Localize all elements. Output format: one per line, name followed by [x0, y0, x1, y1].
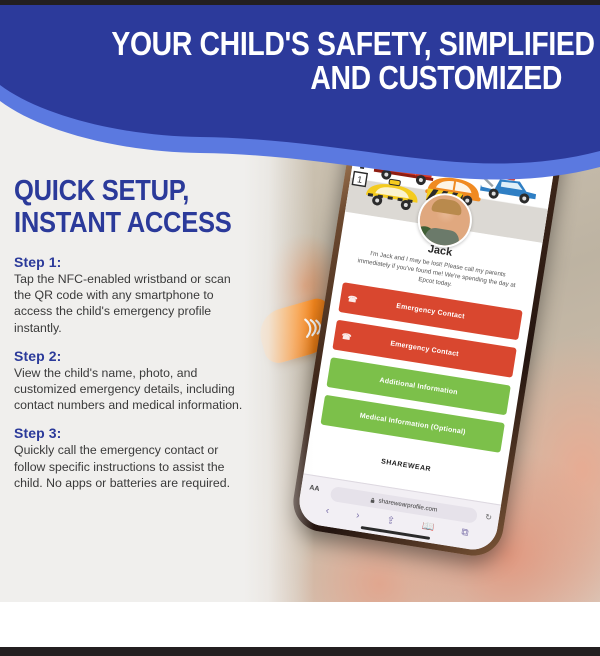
button-label: Emergency Contact — [390, 340, 459, 358]
avatar-hair — [431, 197, 463, 216]
section-title-line-1: QUICK SETUP, — [14, 175, 218, 207]
battery-icon — [534, 134, 550, 145]
forward-icon[interactable]: › — [355, 510, 360, 521]
profile-action-buttons: ☎ Emergency Contact ☎ Emergency Contact … — [319, 282, 523, 461]
step-2-body: View the child's name, photo, and custom… — [14, 365, 246, 414]
step-item-3: Step 3: Quickly call the emergency conta… — [14, 425, 246, 491]
warning-sign-icon — [445, 143, 469, 170]
steps-list: Step 1: Tap the NFC-enabled wristband or… — [14, 254, 246, 491]
hero-photo: 11:02 — [244, 5, 600, 602]
content-canvas: 11:02 — [0, 5, 600, 602]
status-time: 11:02 — [369, 108, 390, 120]
status-icons — [510, 130, 550, 145]
share-icon[interactable]: ⇪ — [386, 515, 396, 527]
url-text: sharewearprofile.com — [378, 497, 438, 513]
speed-limit-sign-icon: 1 — [351, 170, 368, 188]
button-label: Additional Information — [379, 377, 458, 396]
step-1-label: Step 1: — [14, 254, 246, 270]
signal-bars-icon — [511, 131, 521, 139]
step-2-label: Step 2: — [14, 348, 246, 364]
back-icon[interactable]: ‹ — [325, 505, 330, 516]
reload-icon[interactable]: ↻ — [485, 512, 493, 522]
step-3-label: Step 3: — [14, 425, 246, 441]
button-label: Medical Information (Optional) — [359, 412, 466, 436]
step-1-body: Tap the NFC-enabled wristband or scan th… — [14, 271, 246, 336]
lock-icon — [370, 497, 376, 504]
infographic-page: 11:02 — [0, 0, 600, 656]
step-item-2: Step 2: View the child's name, photo, an… — [14, 348, 246, 414]
tabs-icon[interactable]: ⧉ — [461, 527, 470, 539]
phone-icon: ☎ — [347, 294, 358, 304]
step-3-body: Quickly call the emergency contact or fo… — [14, 442, 246, 491]
step-item-1: Step 1: Tap the NFC-enabled wristband or… — [14, 254, 246, 336]
section-title-line-2: INSTANT ACCESS — [14, 207, 218, 239]
bottom-chrome-bar — [0, 647, 600, 656]
phone-icon: ☎ — [341, 331, 352, 341]
left-text-column: QUICK SETUP, INSTANT ACCESS Step 1: Tap … — [0, 10, 262, 503]
hydrant-sign-icon — [354, 149, 373, 173]
wifi-icon — [522, 133, 532, 141]
button-label: Emergency Contact — [396, 302, 465, 320]
bookmarks-icon[interactable]: 📖 — [421, 521, 435, 534]
